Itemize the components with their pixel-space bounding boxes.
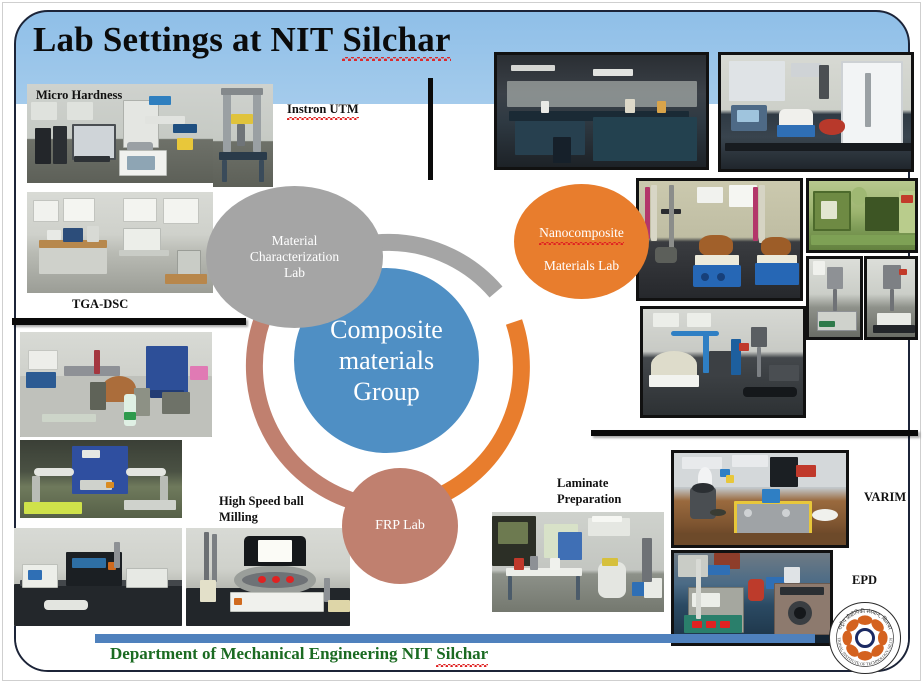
- photo-polishing-bench: [14, 528, 182, 626]
- label-instron-utm-text: Instron UTM: [287, 102, 359, 118]
- photo-furnace-green: [806, 178, 918, 253]
- page-title: Lab Settings at NIT Silchar: [33, 22, 451, 57]
- footer-misspelled-word: Silchar: [436, 644, 488, 664]
- nit-silchar-logo: राष्ट्रीय प्रौद्योगिकी संस्थान, सिलचर NA…: [828, 601, 902, 675]
- photo-frp-shop-floor: [20, 332, 212, 437]
- node-frp-lab[interactable]: FRP Lab: [342, 468, 458, 584]
- node-material-characterization-lab[interactable]: Material Characterization Lab: [206, 186, 383, 328]
- photo-tube-furnace: [20, 440, 182, 518]
- photo-nanocomposite-lab-wide: [494, 52, 709, 170]
- footer-text: Department of Mechanical Engineering NIT…: [110, 644, 488, 664]
- node-nanocomposite-word-1: Nanocomposite: [539, 225, 624, 242]
- photo-epd-setup: [671, 550, 833, 646]
- photo-reflux-setup: [636, 178, 803, 301]
- label-varim: VARIM: [864, 490, 906, 506]
- slide-canvas: Lab Settings at NIT Silchar Micro Hardne…: [0, 0, 923, 683]
- photo-label-micro-hardness: Micro Hardness: [36, 88, 122, 104]
- label-instron-utm: Instron UTM: [287, 86, 359, 117]
- photo-tga-dsc: [27, 192, 213, 293]
- node-nanocomposite-materials-lab-circle[interactable]: Nanocomposite Materials Lab: [514, 184, 649, 299]
- page-title-misspelled-word: Silchar: [342, 22, 450, 57]
- photo-micro-hardness: Micro Hardness: [27, 84, 213, 183]
- footer-text-main: Department of Mechanical Engineering NIT: [110, 644, 436, 663]
- photo-varim-setup: [671, 450, 849, 548]
- footer-bar: [95, 634, 815, 643]
- photo-vacuum-desiccator: [640, 306, 806, 418]
- page-title-text-a: Lab Settings at NIT: [33, 20, 342, 59]
- photo-stirrer-a: [806, 256, 863, 340]
- photo-hotplate-chamber: [718, 52, 914, 172]
- label-tga-dsc: TGA-DSC: [72, 297, 128, 313]
- divider-horizontal-right: [591, 430, 918, 436]
- divider-vertical-top: [428, 78, 433, 180]
- label-epd: EPD: [852, 573, 877, 589]
- photo-stirrer-b: [864, 256, 918, 340]
- node-nanocomposite-word-2: Materials Lab: [544, 258, 619, 273]
